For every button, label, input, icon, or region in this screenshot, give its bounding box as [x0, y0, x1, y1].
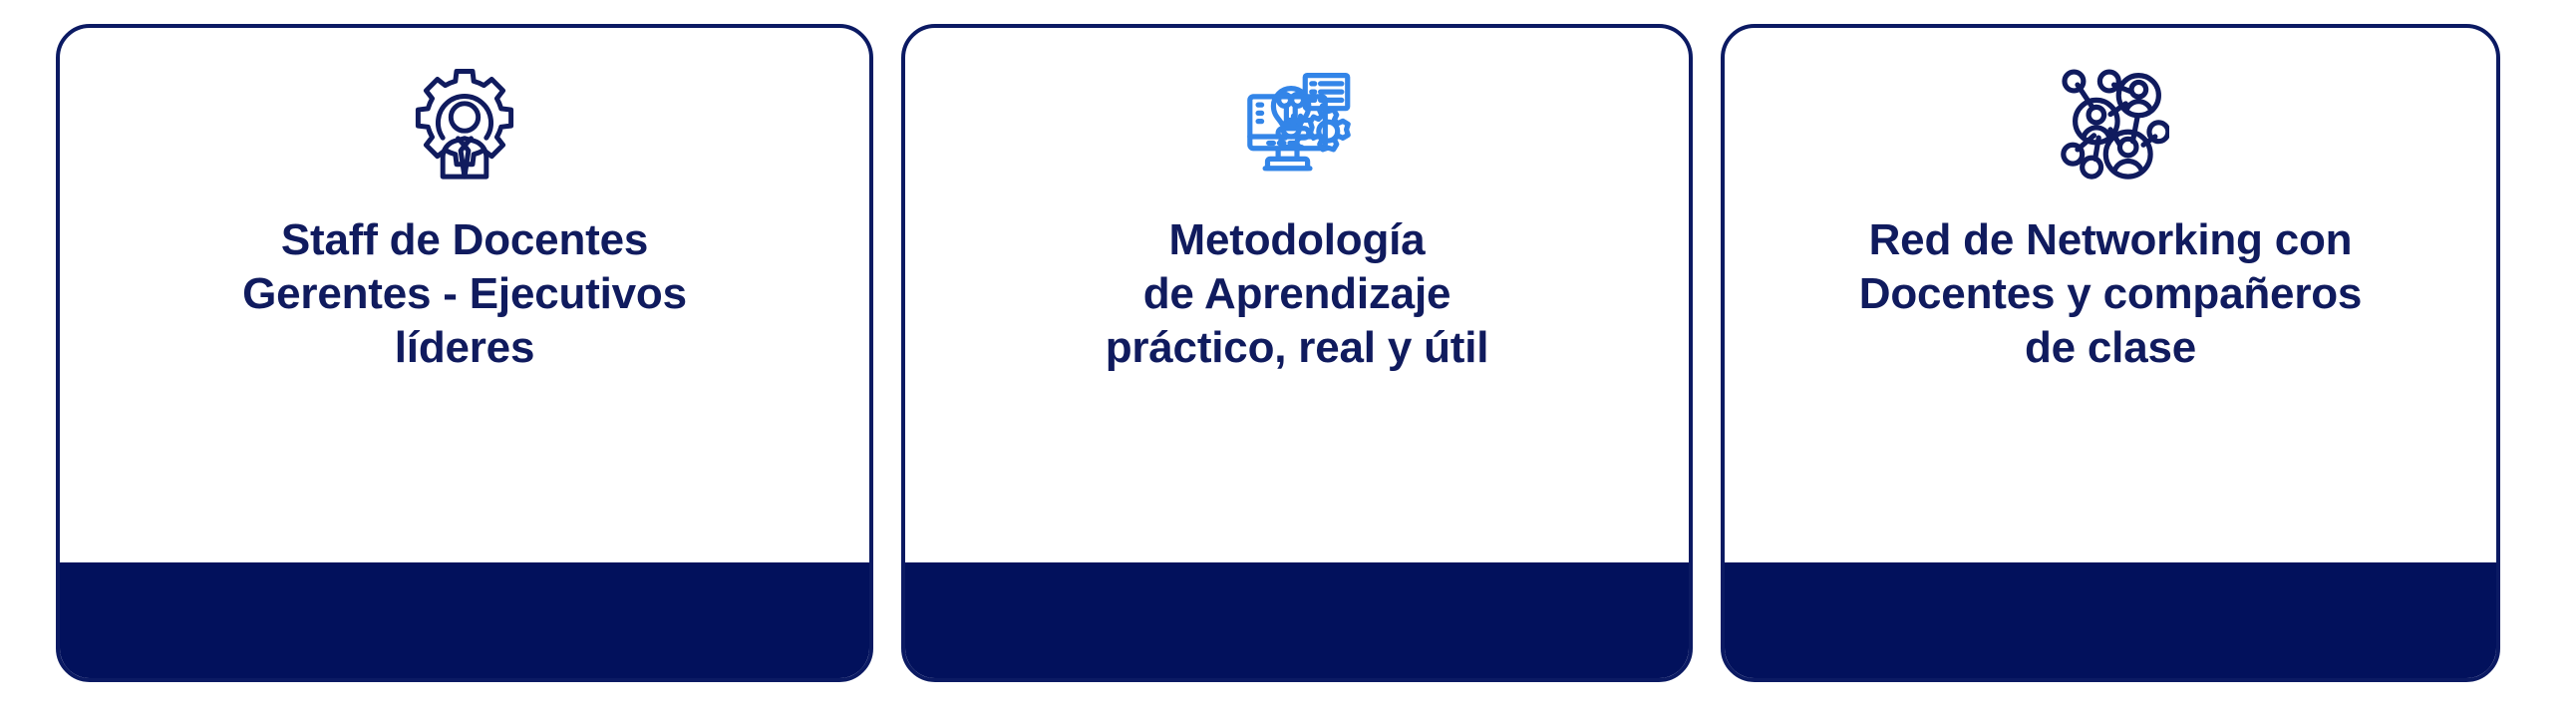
card-footer-bar: [1721, 562, 2500, 682]
feature-card-red-networking[interactable]: Red de Networking con Docentes y compañe…: [1721, 24, 2500, 682]
monitor-lightbulb-gear-icon: [1237, 64, 1357, 183]
gear-professional-icon: [405, 64, 524, 183]
feature-card-metodologia[interactable]: Metodología de Aprendizaje práctico, rea…: [901, 24, 1693, 682]
feature-cards-row: Staff de Docentes Gerentes - Ejecutivos …: [56, 24, 2496, 682]
network-people-icon: [2051, 64, 2170, 183]
card-footer-bar: [901, 562, 1693, 682]
card-footer-bar: [56, 562, 873, 682]
feature-card-staff-docentes[interactable]: Staff de Docentes Gerentes - Ejecutivos …: [56, 24, 873, 682]
